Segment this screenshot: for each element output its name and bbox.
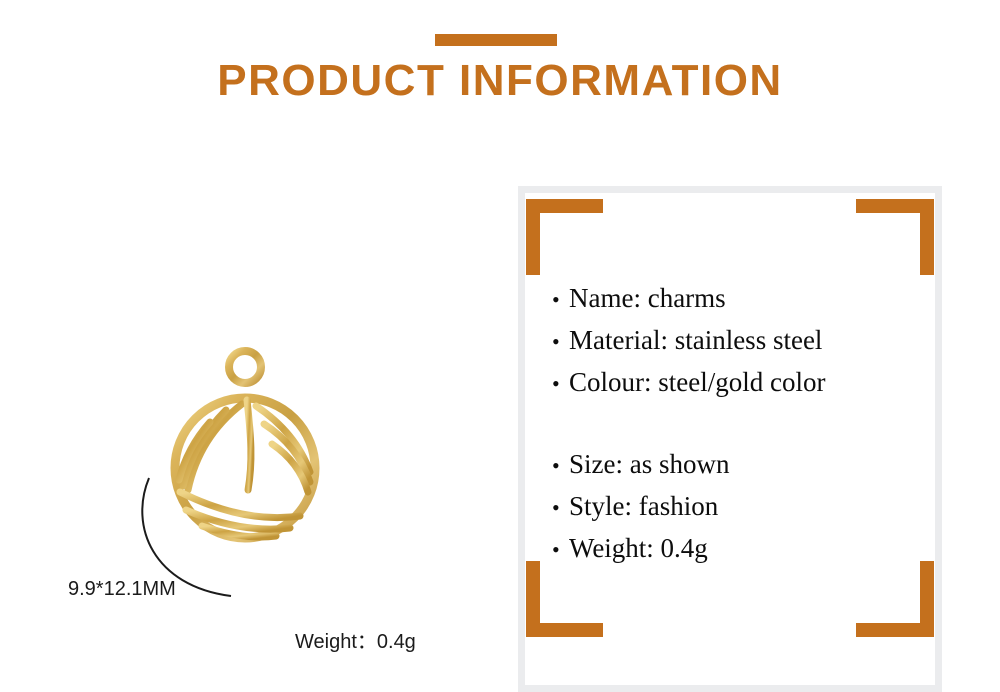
- frame-line-bottom: [518, 685, 942, 692]
- spec-item-label: Style: fashion: [569, 486, 718, 527]
- volleyball-charm-pendant: [150, 340, 340, 555]
- spec-item-label: Size: as shown: [569, 444, 729, 485]
- volleyball-charm-icon: [150, 340, 340, 555]
- bullet-icon: •: [552, 321, 569, 362]
- page-title: PRODUCT INFORMATION: [0, 56, 1000, 106]
- specification-panel: • Name: charms • Material: stainless ste…: [518, 186, 942, 692]
- frame-line-right: [935, 186, 942, 692]
- spec-item: • Colour: steel/gold color: [552, 362, 932, 404]
- page-header: PRODUCT INFORMATION: [0, 0, 1000, 130]
- spec-group-secondary: • Size: as shown • Style: fashion • Weig…: [552, 444, 932, 570]
- specification-list: • Name: charms • Material: stainless ste…: [552, 278, 932, 570]
- spec-item: • Weight: 0.4g: [552, 528, 932, 570]
- weight-caption: Weight：0.4g: [295, 625, 416, 654]
- frame-line-top: [518, 186, 942, 193]
- spec-item-label: Name: charms: [569, 278, 726, 319]
- spec-item: • Style: fashion: [552, 486, 932, 528]
- spec-item: • Size: as shown: [552, 444, 932, 486]
- product-image-area: 9.9*12.1MM Weight：0.4g: [40, 330, 490, 670]
- bullet-icon: •: [552, 279, 569, 320]
- spec-group-primary: • Name: charms • Material: stainless ste…: [552, 278, 932, 404]
- frame-line-left: [518, 186, 525, 692]
- spec-item: • Material: stainless steel: [552, 320, 932, 362]
- bullet-icon: •: [552, 445, 569, 486]
- bullet-icon: •: [552, 487, 569, 528]
- bullet-icon: •: [552, 363, 569, 404]
- title-accent-bar: [435, 34, 557, 46]
- spec-item: • Name: charms: [552, 278, 932, 320]
- dimension-label: 9.9*12.1MM: [68, 578, 176, 601]
- spec-item-label: Colour: steel/gold color: [569, 362, 825, 403]
- bullet-icon: •: [552, 529, 569, 570]
- spec-item-label: Weight: 0.4g: [569, 528, 708, 569]
- spec-item-label: Material: stainless steel: [569, 320, 822, 361]
